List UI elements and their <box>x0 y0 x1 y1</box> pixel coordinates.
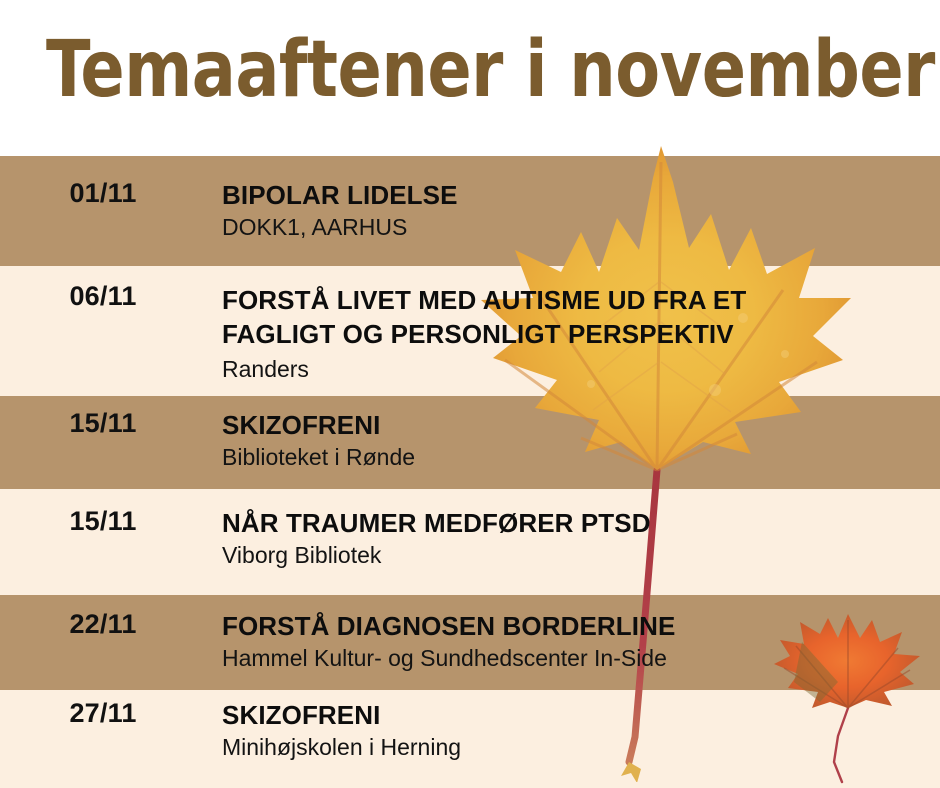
event-info: FORSTÅ DIAGNOSEN BORDERLINE Hammel Kultu… <box>222 611 940 673</box>
event-info: SKIZOFRENI Biblioteket i Rønde <box>222 410 940 472</box>
event-title: SKIZOFRENI <box>222 700 940 730</box>
event-date: 15/11 <box>0 508 222 536</box>
event-title: FORSTÅ LIVET MED AUTISME UD FRA ET FAGLI… <box>222 283 940 352</box>
event-venue: Randers <box>222 356 940 384</box>
event-date: 22/11 <box>0 611 222 639</box>
event-list: 01/11 BIPOLAR LIDELSE DOKK1, AARHUS 06/1… <box>0 0 940 788</box>
event-row-6[interactable]: 27/11 SKIZOFRENI Minihøjskolen i Herning <box>0 700 940 762</box>
event-title: SKIZOFRENI <box>222 410 940 440</box>
event-venue: Viborg Bibliotek <box>222 542 940 570</box>
event-title: BIPOLAR LIDELSE <box>222 180 940 210</box>
event-venue: Minihøjskolen i Herning <box>222 734 940 762</box>
event-info: BIPOLAR LIDELSE DOKK1, AARHUS <box>222 180 940 242</box>
event-venue: Hammel Kultur- og Sundhedscenter In-Side <box>222 645 940 673</box>
poster-canvas: Temaaftener i november 01/11 BIPOLAR LID… <box>0 0 940 788</box>
event-row-2[interactable]: 06/11 FORSTÅ LIVET MED AUTISME UD FRA ET… <box>0 283 940 383</box>
event-venue: Biblioteket i Rønde <box>222 444 940 472</box>
event-info: NÅR TRAUMER MEDFØRER PTSD Viborg Bibliot… <box>222 508 940 570</box>
event-info: SKIZOFRENI Minihøjskolen i Herning <box>222 700 940 762</box>
event-date: 27/11 <box>0 700 222 728</box>
event-row-3[interactable]: 15/11 SKIZOFRENI Biblioteket i Rønde <box>0 410 940 472</box>
event-row-1[interactable]: 01/11 BIPOLAR LIDELSE DOKK1, AARHUS <box>0 180 940 242</box>
event-title: NÅR TRAUMER MEDFØRER PTSD <box>222 508 940 538</box>
event-date: 01/11 <box>0 180 222 208</box>
event-title: FORSTÅ DIAGNOSEN BORDERLINE <box>222 611 940 641</box>
event-date: 06/11 <box>0 283 222 311</box>
event-info: FORSTÅ LIVET MED AUTISME UD FRA ET FAGLI… <box>222 283 940 383</box>
event-venue: DOKK1, AARHUS <box>222 214 940 242</box>
event-row-5[interactable]: 22/11 FORSTÅ DIAGNOSEN BORDERLINE Hammel… <box>0 611 940 673</box>
event-row-4[interactable]: 15/11 NÅR TRAUMER MEDFØRER PTSD Viborg B… <box>0 508 940 570</box>
event-date: 15/11 <box>0 410 222 438</box>
